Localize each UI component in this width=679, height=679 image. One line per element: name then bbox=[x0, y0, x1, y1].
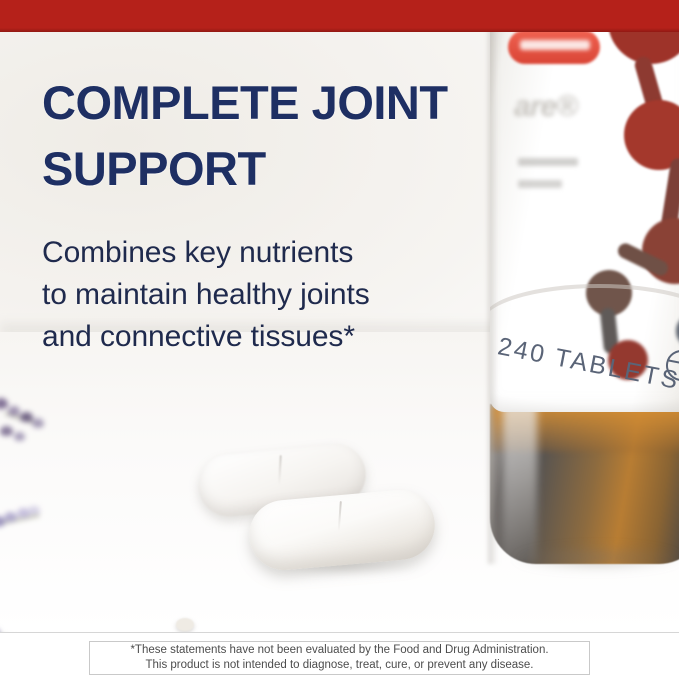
product-marketing-image: are® 240 TABLETS COMPLET bbox=[0, 0, 679, 679]
footer-divider bbox=[0, 632, 679, 633]
subhead-line-2: to maintain healthy joints bbox=[42, 274, 472, 316]
subhead-line-1: Combines key nutrients bbox=[42, 232, 472, 274]
headline-line-2: SUPPORT bbox=[42, 136, 472, 202]
lavender-sprig-bottom bbox=[0, 620, 106, 632]
bottle-sticker-text bbox=[520, 40, 590, 50]
supplement-bottle: are® 240 TABLETS bbox=[472, 32, 679, 632]
top-red-bar bbox=[0, 0, 679, 32]
bottle-left-edge bbox=[488, 32, 498, 564]
tablet-count-label: 240 TABLETS bbox=[495, 332, 679, 396]
caplet-score-line bbox=[278, 455, 282, 485]
bottle-base-shadow bbox=[478, 540, 679, 576]
fda-disclaimer-box: *These statements have not been evaluate… bbox=[89, 641, 590, 675]
label-text-line-2 bbox=[518, 180, 562, 188]
label-text-line-1 bbox=[518, 158, 578, 166]
headline-line-1: COMPLETE JOINT bbox=[42, 70, 472, 136]
lavender-sprig-middle bbox=[0, 502, 56, 542]
marketing-copy: COMPLETE JOINT SUPPORT Combines key nutr… bbox=[42, 70, 472, 358]
lavender-sprig-top bbox=[0, 392, 64, 448]
disclaimer-line-2: This product is not intended to diagnose… bbox=[145, 658, 533, 673]
top-bar-shadow bbox=[0, 28, 679, 32]
page-title: COMPLETE JOINT SUPPORT bbox=[42, 70, 472, 202]
tablet-count-band: 240 TABLETS bbox=[490, 298, 679, 388]
caplet-score-line bbox=[338, 501, 342, 531]
subheadline: Combines key nutrients to maintain healt… bbox=[42, 232, 472, 358]
caplet-crumb bbox=[176, 618, 194, 631]
footer: *These statements have not been evaluate… bbox=[0, 632, 679, 679]
brand-wordmark: are® bbox=[514, 90, 624, 120]
bottle-label: are® 240 TABLETS bbox=[490, 32, 679, 412]
tablet-circle-icon bbox=[663, 347, 679, 383]
disclaimer-line-1: *These statements have not been evaluate… bbox=[130, 643, 548, 658]
subhead-line-3: and connective tissues* bbox=[42, 316, 472, 358]
